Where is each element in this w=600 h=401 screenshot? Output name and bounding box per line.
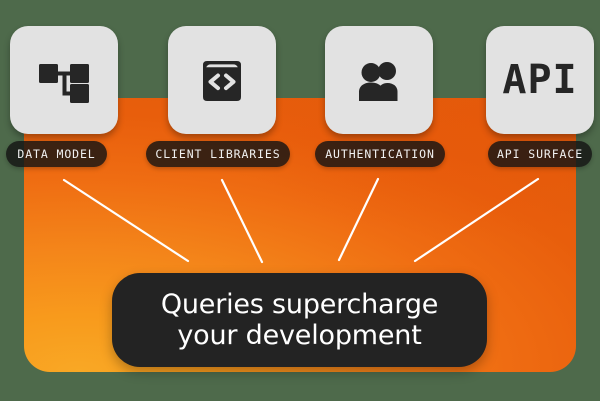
users-icon (349, 51, 409, 109)
feature-card-data-model[interactable] (10, 26, 118, 134)
card-label-client-libraries[interactable]: CLIENT LIBRARIES (146, 141, 290, 167)
pill-text: API SURFACE (497, 147, 583, 161)
schema-icon (35, 51, 93, 109)
pill-text: DATA MODEL (17, 147, 95, 161)
card-label-api-surface[interactable]: API SURFACE (488, 141, 592, 167)
feature-card-api-surface[interactable]: API (486, 26, 594, 134)
feature-card-authentication[interactable] (325, 26, 433, 134)
pill-text: AUTHENTICATION (325, 147, 435, 161)
headline-line-1: Queries supercharge (161, 289, 438, 320)
api-icon-label: API (502, 57, 577, 103)
headline-panel: Queries supercharge your development (112, 273, 487, 367)
headline-text: Queries supercharge your development (161, 289, 438, 352)
infographic-canvas: API DATA MODEL CLIENT LIBRARIES AUTHENTI… (0, 0, 600, 401)
headline-line-2: your development (177, 320, 421, 351)
code-brackets-icon (193, 51, 251, 109)
pill-text: CLIENT LIBRARIES (155, 147, 280, 161)
feature-card-client-libraries[interactable] (168, 26, 276, 134)
card-label-data-model[interactable]: DATA MODEL (6, 141, 107, 167)
api-text-icon: API (496, 54, 584, 106)
card-label-authentication[interactable]: AUTHENTICATION (315, 141, 445, 167)
